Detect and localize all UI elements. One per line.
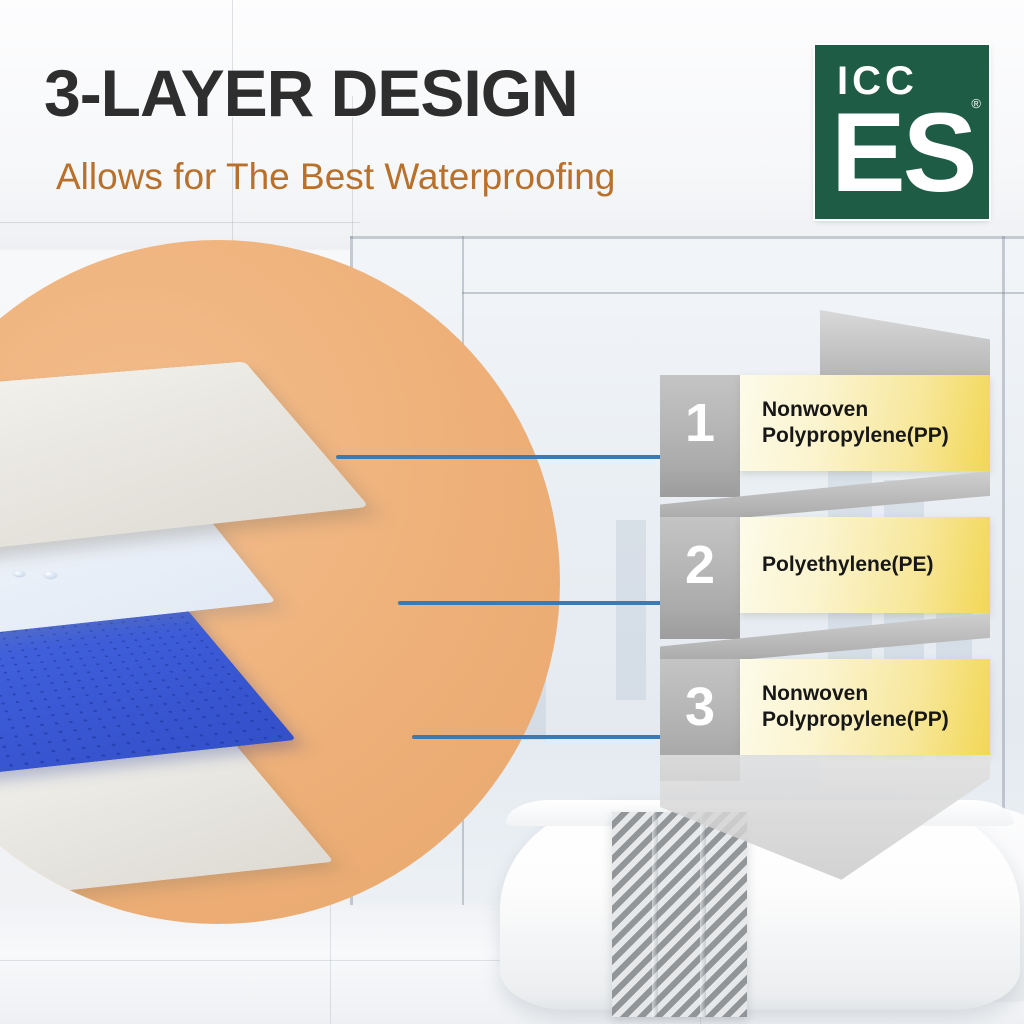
layer-number-block-side-2 bbox=[660, 613, 740, 639]
layer-number-block-2: 2 bbox=[660, 517, 740, 613]
layer-label-line1-1: Nonwoven bbox=[762, 397, 949, 423]
connector-line-3 bbox=[412, 735, 666, 739]
layer-number-block-3: 3 bbox=[660, 659, 740, 755]
window-header bbox=[350, 236, 1024, 239]
layer-label-line2-1: Polypropylene(PP) bbox=[762, 423, 949, 449]
icc-es-logo: ICC ES ® bbox=[815, 45, 989, 219]
towel-fold bbox=[652, 812, 658, 1017]
layer-ribbon-3: Nonwoven Polypropylene(PP) bbox=[740, 659, 990, 755]
layer-label-line1-3: Nonwoven bbox=[762, 681, 949, 707]
layer-number-2: 2 bbox=[660, 517, 740, 613]
layer-label-1: Nonwoven Polypropylene(PP) bbox=[762, 375, 949, 471]
layer-label-2: Polyethylene(PE) bbox=[762, 517, 934, 613]
layer-number-block-1: 1 bbox=[660, 375, 740, 471]
water-droplet bbox=[43, 571, 57, 578]
layer-banner-3[interactable]: 3 Nonwoven Polypropylene(PP) bbox=[660, 659, 990, 755]
window-transom bbox=[462, 292, 1024, 294]
layer-label-line1-2: Polyethylene(PE) bbox=[762, 552, 934, 578]
floor-tile-line bbox=[330, 905, 331, 1024]
layer-ribbon-1: Nonwoven Polypropylene(PP) bbox=[740, 375, 990, 471]
city-building bbox=[616, 520, 646, 700]
layer-number-3: 3 bbox=[660, 659, 740, 755]
layer-banner-2[interactable]: 2 Polyethylene(PE) bbox=[660, 517, 990, 613]
towel-fold bbox=[700, 812, 706, 1017]
connector-line-1 bbox=[336, 455, 666, 459]
layer-label-line2-3: Polypropylene(PP) bbox=[762, 707, 949, 733]
layer-label-3: Nonwoven Polypropylene(PP) bbox=[762, 659, 949, 755]
connector-line-2 bbox=[398, 601, 666, 605]
registered-trademark-icon: ® bbox=[971, 97, 981, 110]
towel bbox=[612, 812, 747, 1017]
layer-banner-1[interactable]: 1 Nonwoven Polypropylene(PP) bbox=[660, 375, 990, 471]
icc-es-logo-main-text: ES bbox=[831, 97, 974, 209]
layer-ribbon-2: Polyethylene(PE) bbox=[740, 517, 990, 613]
layer-number-block-side-1 bbox=[660, 471, 740, 497]
water-droplet bbox=[13, 571, 25, 577]
page-subtitle: Allows for The Best Waterproofing bbox=[56, 158, 615, 195]
infographic-canvas: 3-LAYER DESIGN Allows for The Best Water… bbox=[0, 0, 1024, 1024]
ceiling-seam bbox=[0, 222, 360, 223]
layer-number-1: 1 bbox=[660, 375, 740, 471]
page-title: 3-LAYER DESIGN bbox=[44, 60, 578, 126]
